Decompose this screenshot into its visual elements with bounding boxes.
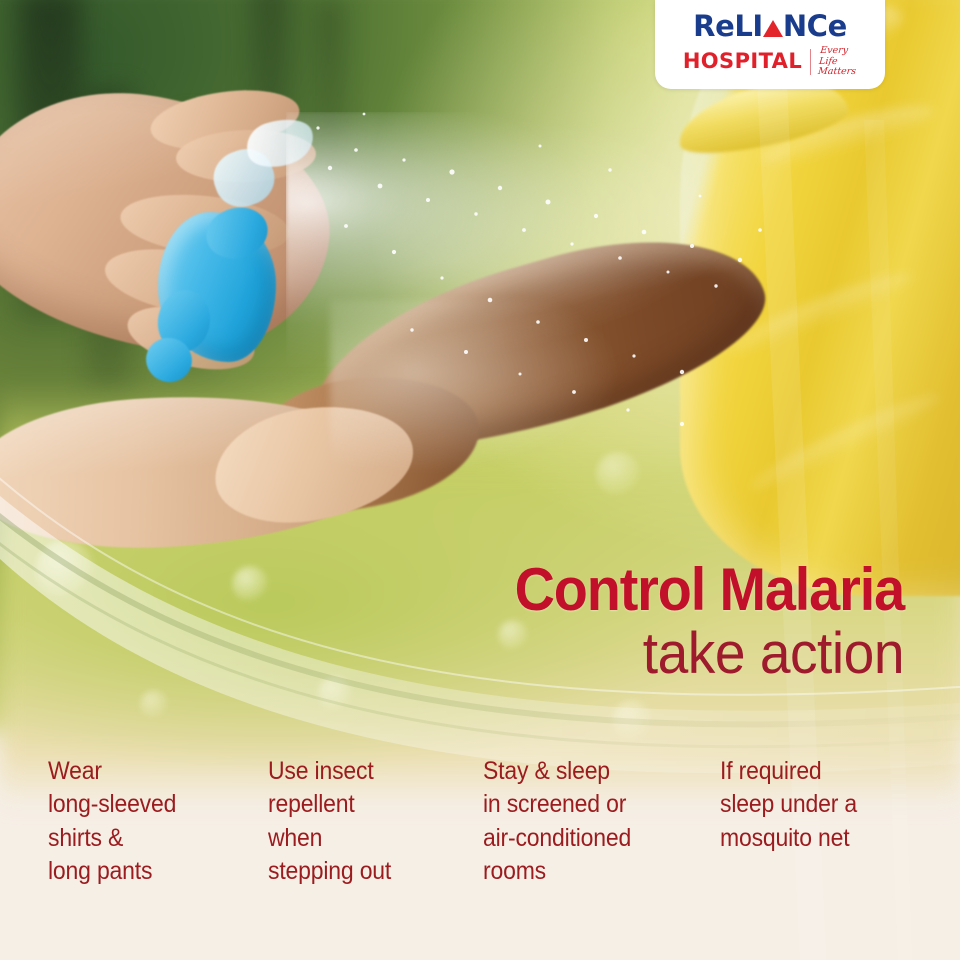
reliance-hospital-logo[interactable]: ReLINCe HOSPITAL Every Life Matters xyxy=(655,0,885,89)
tip-mosquito-net: If required sleep under a mosquito net xyxy=(720,755,911,888)
prevention-tips-row: Wear long-sleeved shirts & long pants Us… xyxy=(48,755,928,888)
tagline-line-1: Every xyxy=(820,45,849,56)
tip-wear-long-sleeves: Wear long-sleeved shirts & long pants xyxy=(48,755,251,888)
logo-divider xyxy=(810,49,811,75)
reliance-triangle-icon xyxy=(763,20,783,37)
bokeh-highlight xyxy=(498,620,528,650)
bokeh-highlight xyxy=(612,700,652,740)
bokeh-highlight xyxy=(36,540,94,598)
malaria-awareness-poster: ReLINCe HOSPITAL Every Life Matters Cont… xyxy=(0,0,960,960)
tip-screened-rooms: Stay & sleep in screened or air-conditio… xyxy=(483,755,701,888)
bokeh-highlight xyxy=(232,566,268,602)
tip-use-repellent: Use insect repellent when stepping out xyxy=(268,755,466,888)
reliance-wordmark-part1: ReLI xyxy=(693,12,763,41)
logo-tagline: Every Life Matters xyxy=(817,46,858,78)
hospital-wordmark: HOSPITAL xyxy=(683,51,802,72)
reliance-wordmark: ReLINCe xyxy=(693,12,847,41)
logo-second-row: HOSPITAL Every Life Matters xyxy=(683,46,857,78)
reliance-wordmark-part2: NCe xyxy=(783,12,847,41)
bokeh-highlight xyxy=(318,676,352,710)
bokeh-highlight xyxy=(140,690,168,718)
tagline-line-2: Life xyxy=(819,55,839,66)
spray-mist-secondary xyxy=(330,300,750,540)
tagline-line-3: Matters xyxy=(817,66,856,77)
